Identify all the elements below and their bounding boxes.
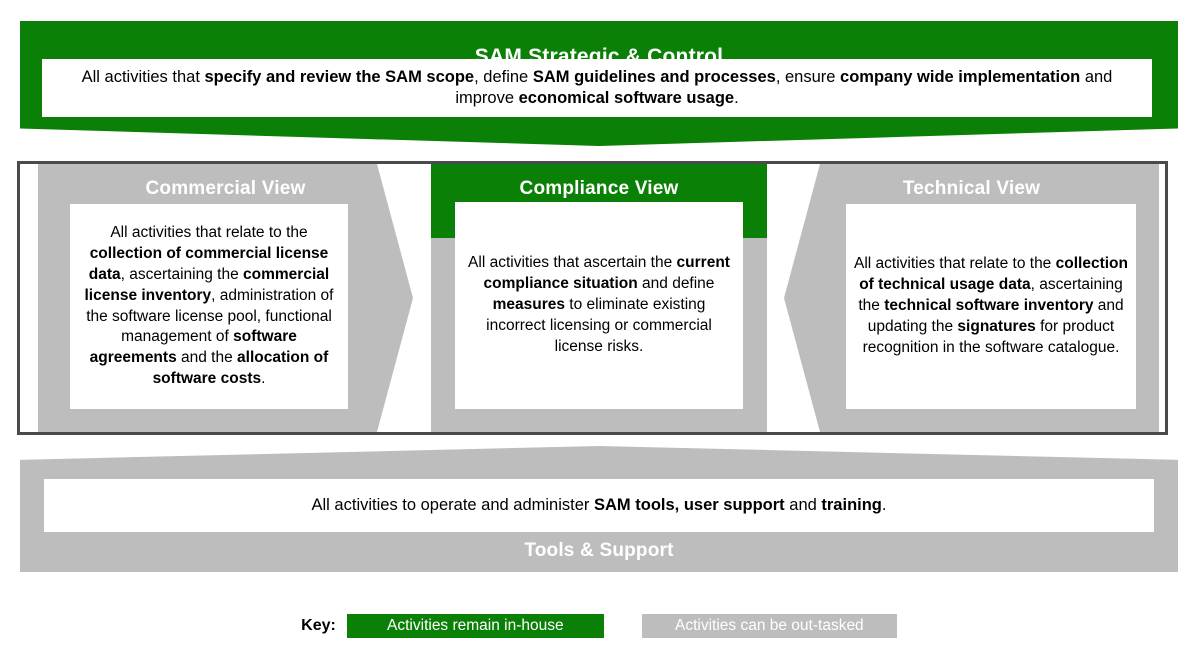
commercial-description-text: All activities that relate to the collec… xyxy=(70,221,348,392)
view-panel-compliance[interactable]: All activities that ascertain the curren… xyxy=(431,164,767,432)
technical-description-box: All activities that relate to the collec… xyxy=(846,204,1136,409)
key-chip-out-tasked: Activities can be out-tasked xyxy=(642,614,897,638)
strategic-description-text: All activities that specify and review t… xyxy=(42,67,1152,109)
strategic-banner-title: SAM Strategic & Control xyxy=(20,45,1178,69)
technical-view-title: Technical View xyxy=(784,178,1159,200)
key-label: Key: xyxy=(301,617,336,635)
tools-support-banner: All activities to operate and administer… xyxy=(20,446,1178,572)
compliance-description-box: All activities that ascertain the curren… xyxy=(455,202,743,409)
sam-strategic-control-banner: All activities that specify and review t… xyxy=(20,21,1178,146)
commercial-description-box: All activities that relate to the collec… xyxy=(70,204,348,409)
view-panel-commercial[interactable]: All activities that relate to the collec… xyxy=(38,164,413,432)
commercial-view-title: Commercial View xyxy=(38,178,413,200)
views-frame: All activities that relate to the collec… xyxy=(17,161,1168,435)
key-chip-in-house: Activities remain in-house xyxy=(347,614,604,638)
compliance-view-title: Compliance View xyxy=(431,178,767,200)
key-legend: Key: Activities remain in-house Activiti… xyxy=(0,612,1198,640)
compliance-description-text: All activities that ascertain the curren… xyxy=(455,251,743,359)
technical-description-text: All activities that relate to the collec… xyxy=(846,252,1136,360)
tools-description-box: All activities to operate and administer… xyxy=(44,479,1154,532)
tools-description-text: All activities to operate and administer… xyxy=(312,495,887,516)
tools-support-title: Tools & Support xyxy=(20,540,1178,562)
view-panel-technical[interactable]: All activities that relate to the collec… xyxy=(784,164,1159,432)
